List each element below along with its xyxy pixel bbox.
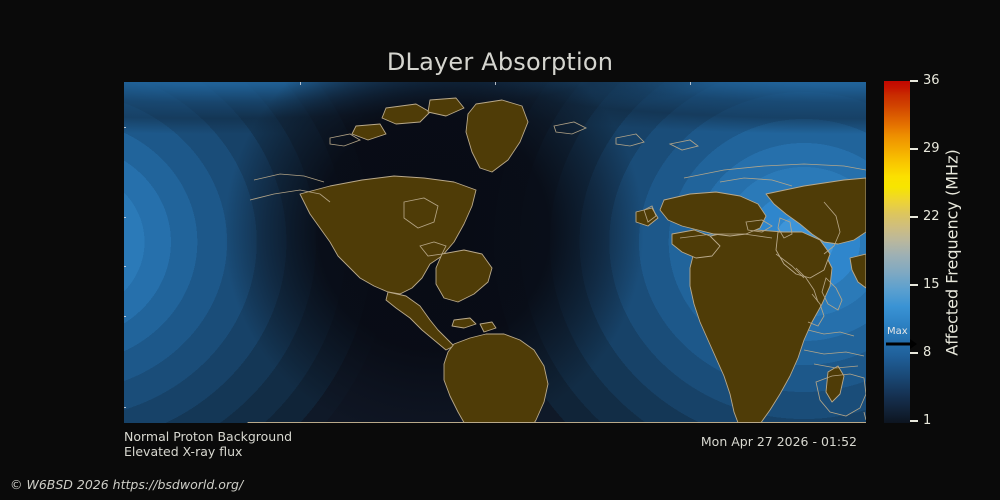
tick-dash-icon (910, 352, 918, 354)
copyright-notice: © W6BSD 2026 https://bsdworld.org/ (10, 477, 243, 492)
status-line-proton: Normal Proton Background (124, 429, 292, 444)
colorbar-axis-label: Affected Frequency (MHz) (939, 81, 965, 423)
tick-dash-icon (910, 420, 918, 422)
colorbar-max-marker: Max (886, 326, 932, 352)
coastline-overlay (124, 82, 866, 423)
status-block: Normal Proton Background Elevated X-ray … (124, 429, 292, 459)
tick-dash-icon (910, 216, 918, 218)
status-line-xray: Elevated X-ray flux (124, 444, 292, 459)
tick-dash-icon (910, 284, 918, 286)
tick-dash-icon (910, 80, 918, 82)
max-marker-label: Max (887, 326, 908, 337)
page-title: DLayer Absorption (0, 48, 1000, 76)
absorption-map[interactable] (124, 82, 866, 423)
timestamp: Mon Apr 27 2026 - 01:52 (701, 434, 857, 449)
colorbar-gradient[interactable] (884, 81, 910, 423)
arrow-right-icon (886, 338, 918, 350)
tick-dash-icon (910, 148, 918, 150)
